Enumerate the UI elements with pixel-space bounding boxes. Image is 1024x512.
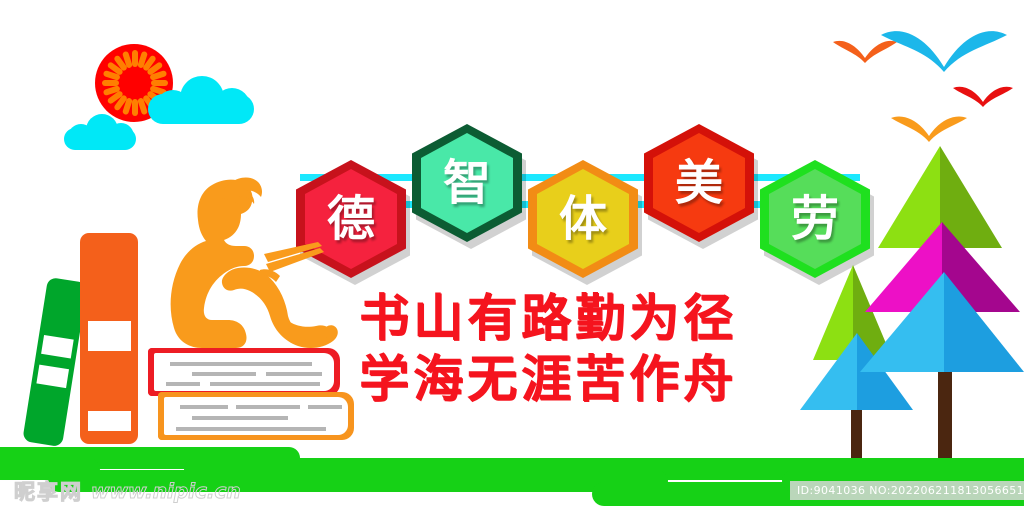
hex-character: 美: [644, 124, 754, 242]
book-green: [22, 277, 87, 447]
watermark-url: www.nipic.cn: [91, 479, 241, 503]
slogan-line-2: 学海无涯苦作舟: [318, 349, 778, 410]
book-stacked-orange: [158, 392, 354, 440]
hex-character: 智: [412, 124, 522, 242]
hex-badge-ti[interactable]: 体: [528, 160, 638, 278]
tree-large-trunk: [938, 368, 952, 464]
bird-icon: [890, 113, 968, 147]
watermark-id: ID:9041036 NO:20220621181305665100: [790, 481, 1024, 500]
hex-badge-zhi[interactable]: 智: [412, 124, 522, 242]
tree-large: [860, 146, 1024, 376]
hex-badge-mei[interactable]: 美: [644, 124, 754, 242]
slogan-line-1: 书山有路勤为径: [318, 288, 778, 349]
hex-character: 劳: [760, 160, 870, 278]
poster-canvas: 德智体美劳 书山有路勤为径 学海无涯苦作舟: [0, 0, 1024, 512]
reading-child-icon: [140, 172, 340, 357]
book-orange: [80, 233, 138, 444]
cloud-icon: [148, 76, 254, 124]
watermark-nipic: 昵享网 www.nipic.cn: [14, 476, 241, 506]
slogan-block: 书山有路勤为径 学海无涯苦作舟: [318, 288, 778, 410]
cloud-icon: [64, 114, 136, 150]
hex-badge-lao[interactable]: 劳: [760, 160, 870, 278]
watermark-logo: 昵享网: [14, 476, 83, 506]
hex-character: 体: [528, 160, 638, 278]
bird-icon: [952, 84, 1014, 112]
bird-icon: [880, 27, 1008, 77]
